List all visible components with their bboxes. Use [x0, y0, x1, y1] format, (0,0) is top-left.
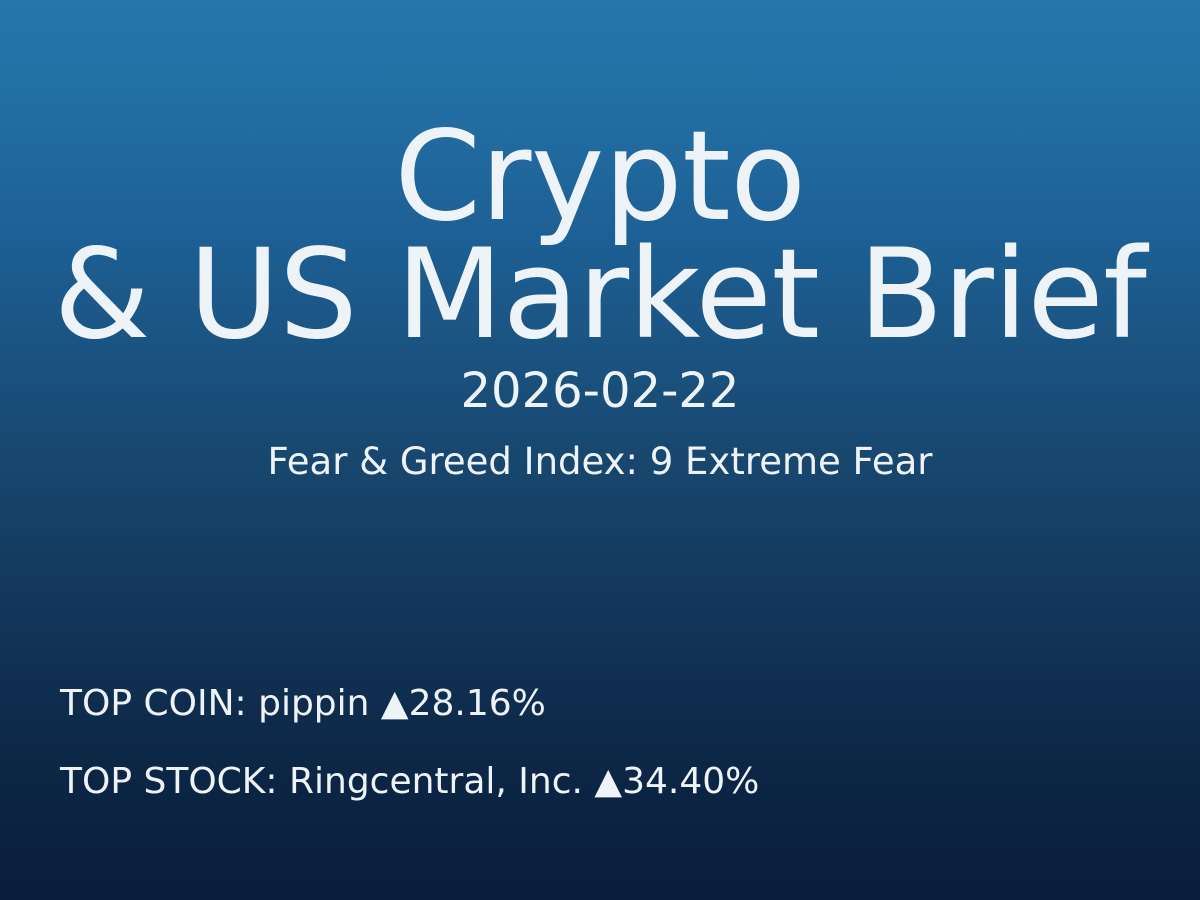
top-coin-name: pippin: [258, 683, 369, 724]
top-stock-row: TOP STOCK: Ringcentral, Inc. ▲34.40%: [60, 759, 1140, 805]
market-brief-slide: Crypto & US Market Brief 2026-02-22 Fear…: [0, 0, 1200, 900]
top-stock-name: Ringcentral, Inc.: [289, 761, 583, 802]
title-line-2: & US Market Brief: [0, 236, 1200, 354]
top-coin-label: TOP COIN:: [60, 683, 247, 724]
top-coin-change: 28.16%: [409, 683, 546, 724]
highlights-list: TOP COIN: pippin ▲28.16% TOP STOCK: Ring…: [60, 681, 1140, 805]
top-stock-change: 34.40%: [622, 761, 759, 802]
arrow-up-icon: ▲: [594, 761, 622, 802]
fear-greed-index: Fear & Greed Index: 9 Extreme Fear: [0, 439, 1200, 485]
arrow-up-icon: ▲: [381, 683, 409, 724]
page-title: Crypto & US Market Brief: [0, 118, 1200, 354]
title-line-1: Crypto: [0, 118, 1200, 236]
top-coin-row: TOP COIN: pippin ▲28.16%: [60, 681, 1140, 727]
top-stock-label: TOP STOCK:: [60, 761, 278, 802]
report-date: 2026-02-22: [0, 363, 1200, 419]
